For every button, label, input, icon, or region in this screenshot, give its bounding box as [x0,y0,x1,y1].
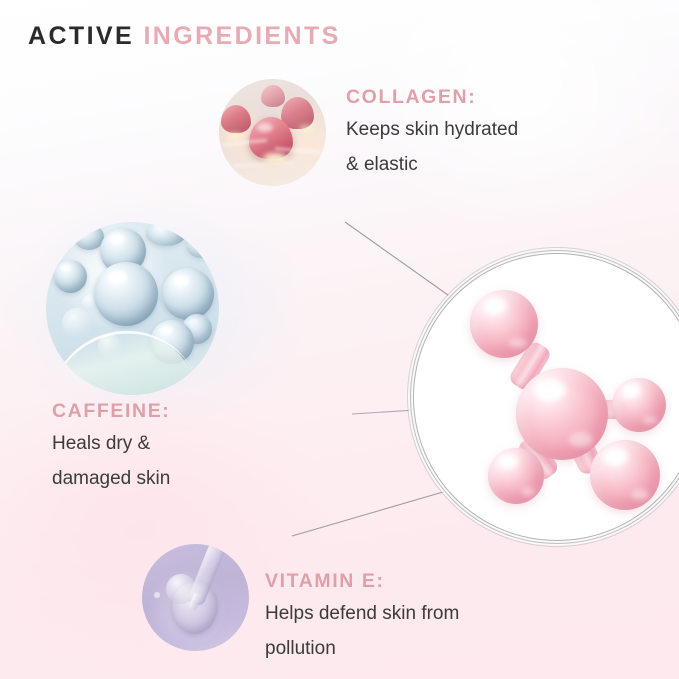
collagen-glow-1 [263,153,287,163]
vitamin-e-description-line-2: pollution [265,636,459,663]
collagen-light-streak-3 [233,161,293,167]
collagen-glow-2 [227,133,243,140]
molecule-sphere-top-left [470,290,538,358]
caffeine-bubble-3 [162,268,214,320]
caffeine-description-line-2: damaged skin [52,466,170,493]
caffeine-bubble-1 [94,262,158,326]
molecule-sphere-bottom-right [590,440,660,510]
caffeine-description-line-1: Heals dry & [52,431,170,458]
caffeine-bubble-8 [146,222,186,246]
page-title: ACTIVE INGREDIENTS [28,22,341,51]
vitamin-e-description-line-1: Helps defend skin from [265,601,459,628]
molecule-sphere-right [612,378,666,432]
vitamin-e-highlight-dot [154,592,160,598]
collagen-heading: COLLAGEN: [346,86,518,109]
collagen-text-block: COLLAGEN: Keeps skin hydrated & elastic [346,86,518,179]
collagen-description-line-2: & elastic [346,152,518,179]
molecule-sphere-bottom-left [488,448,544,504]
vitamin-e-heading: VITAMIN E: [265,570,459,593]
vitamin-e-text-block: VITAMIN E: Helps defend skin from pollut… [265,570,459,663]
caffeine-bubble-4 [54,260,87,293]
collagen-description-line-1: Keeps skin hydrated [346,117,518,144]
title-word-ingredients: INGREDIENTS [143,22,340,50]
molecule-inner [414,254,679,540]
caffeine-text-block: CAFFEINE: Heals dry & damaged skin [52,400,170,493]
caffeine-bubbles-thumbnail [46,222,219,395]
collagen-dome-far [261,85,285,107]
collagen-microscopy-thumbnail [219,79,326,186]
molecule-sphere-center [516,368,608,460]
ingredients-poster: ACTIVE INGREDIENTS COLLAGEN: Keeps skin … [0,0,679,679]
title-word-active: ACTIVE [28,22,134,50]
caffeine-bubble-9 [186,232,218,258]
molecule-illustration [414,254,679,540]
vitamin-e-serum-thumbnail [142,544,249,651]
collagen-glow-3 [299,125,313,132]
caffeine-heading: CAFFEINE: [52,400,170,423]
collagen-dome-left [221,105,251,133]
caffeine-bubble-ghost-1 [62,308,92,338]
